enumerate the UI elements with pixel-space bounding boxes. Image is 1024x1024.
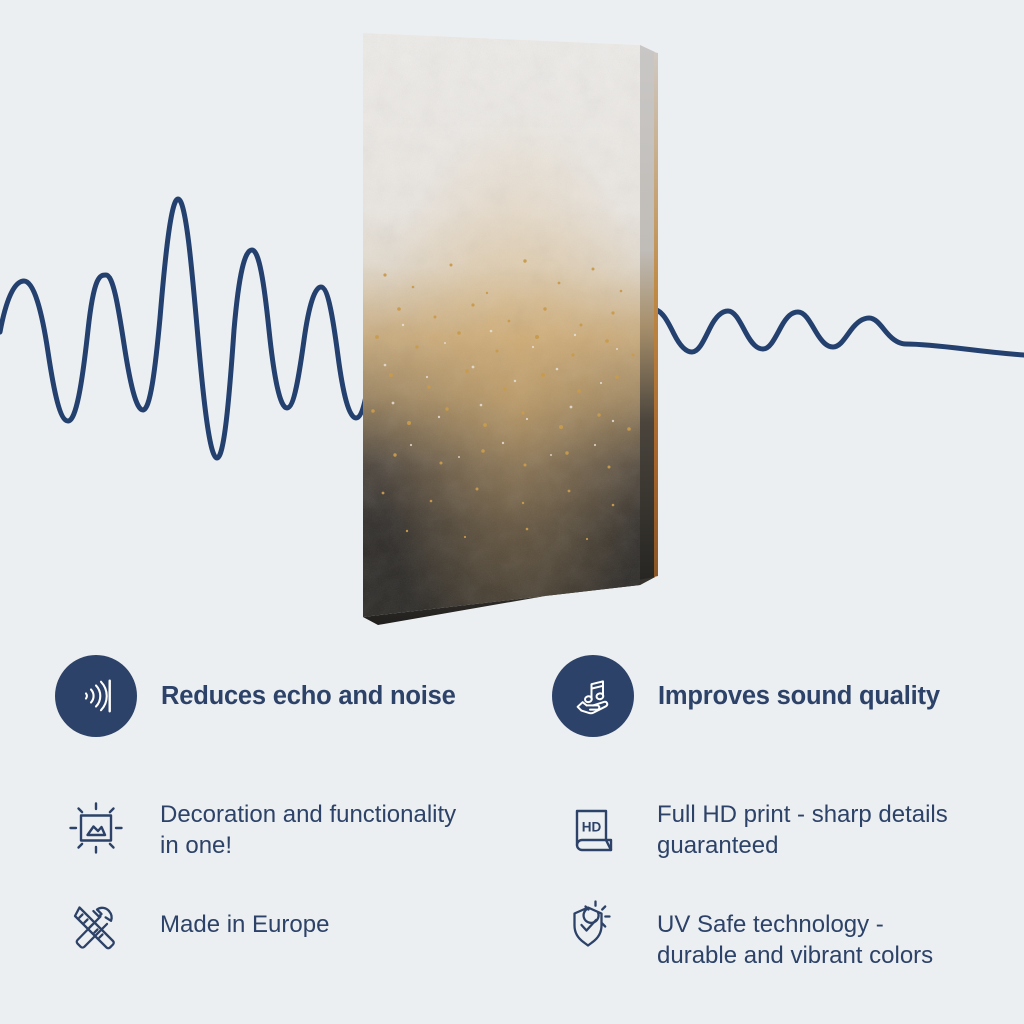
feature-uv-safe: UV Safe technology - durable and vibrant… — [553, 888, 933, 971]
feature-line: Decoration and functionality — [160, 800, 456, 831]
feature-list: Reduces echo and noise Improves sound qu… — [0, 640, 1024, 1024]
feature-text: Decoration and functionality in one! — [160, 788, 456, 861]
feature-line: Made in Europe — [160, 910, 329, 941]
hd-print-icon: HD — [553, 788, 633, 868]
product-canvas-image — [355, 25, 665, 650]
waveform-path-right — [652, 309, 1024, 355]
feature-line: UV Safe technology - — [657, 910, 933, 941]
feature-text: UV Safe technology - durable and vibrant… — [657, 888, 933, 971]
feature-hd-print: HD Full HD print - sharp details guarant… — [553, 788, 948, 868]
feature-line: in one! — [160, 831, 456, 862]
badge-improves-sound: Improves sound quality — [552, 655, 940, 737]
feature-line: Full HD print - sharp details — [657, 800, 948, 831]
feature-made-in-europe: Made in Europe — [56, 888, 329, 968]
feature-line: guaranteed — [657, 831, 948, 862]
ruler-hammer-icon — [56, 888, 136, 968]
feature-decoration: Decoration and functionality in one! — [56, 788, 456, 868]
canvas-edge-highlight — [654, 52, 658, 577]
sound-wave-absorption-icon — [55, 655, 137, 737]
canvas-side-face — [640, 45, 655, 585]
feature-text: Full HD print - sharp details guaranteed — [657, 788, 948, 861]
framed-picture-icon — [56, 788, 136, 868]
badge-label: Reduces echo and noise — [161, 682, 456, 711]
badge-label: Improves sound quality — [658, 682, 940, 711]
uv-shield-icon — [553, 888, 633, 968]
feature-text: Made in Europe — [160, 888, 329, 941]
music-note-in-hand-icon — [552, 655, 634, 737]
badge-reduces-echo: Reduces echo and noise — [55, 655, 456, 737]
feature-line: durable and vibrant colors — [657, 941, 933, 972]
svg-text:HD: HD — [582, 820, 602, 835]
